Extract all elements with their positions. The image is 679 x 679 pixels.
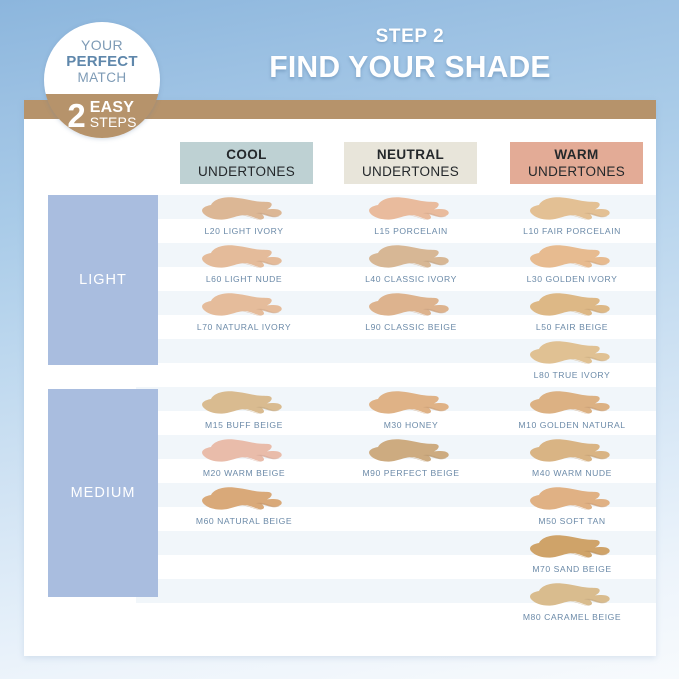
foundation-swatch-icon xyxy=(365,196,457,226)
shade-cell[interactable]: L70 NATURAL IVORY xyxy=(162,291,326,339)
shade-label: M30 HONEY xyxy=(329,420,493,430)
section-medium-text: MEDIUM xyxy=(71,485,136,501)
badge-bottom-half: 2 EASY STEPS xyxy=(44,94,160,138)
section-label-light: LIGHT xyxy=(48,195,158,365)
shade-cell[interactable]: L20 LIGHT IVORY xyxy=(162,195,326,243)
undertone-header-row: COOL UNDERTONES NEUTRAL UNDERTONES WARM … xyxy=(24,142,656,184)
shade-label: L10 FAIR PORCELAIN xyxy=(490,226,654,236)
shade-cell[interactable]: M40 WARM NUDE xyxy=(490,437,654,485)
undertone-name-warm: WARM xyxy=(554,147,598,163)
shade-label: L15 PORCELAIN xyxy=(329,226,493,236)
shade-grid: LIGHT MEDIUM L20 LIGHT IVORYL60 LIGHT NU… xyxy=(24,195,656,620)
foundation-swatch-icon xyxy=(526,292,618,322)
shade-label: M60 NATURAL BEIGE xyxy=(162,516,326,526)
shade-label: L30 GOLDEN IVORY xyxy=(490,274,654,284)
shade-label: L80 TRUE IVORY xyxy=(490,370,654,380)
shade-label: M90 PERFECT BEIGE xyxy=(329,468,493,478)
foundation-swatch-icon xyxy=(198,196,290,226)
undertone-header-cool[interactable]: COOL UNDERTONES xyxy=(180,142,313,184)
shade-cell[interactable]: L60 LIGHT NUDE xyxy=(162,243,326,291)
shade-label: L20 LIGHT IVORY xyxy=(162,226,326,236)
shade-cell[interactable]: L80 TRUE IVORY xyxy=(490,339,654,387)
foundation-swatch-icon xyxy=(526,390,618,420)
badge-line-match: MATCH xyxy=(78,70,127,86)
shade-label: M15 BUFF BEIGE xyxy=(162,420,326,430)
undertone-sub-neutral: UNDERTONES xyxy=(362,163,459,180)
badge-line-perfect: PERFECT xyxy=(66,53,137,70)
shade-cell[interactable]: M30 HONEY xyxy=(329,389,493,437)
shade-cell[interactable]: M70 SAND BEIGE xyxy=(490,533,654,581)
shade-label: M10 GOLDEN NATURAL xyxy=(490,420,654,430)
foundation-swatch-icon xyxy=(198,390,290,420)
undertone-name-cool: COOL xyxy=(226,147,267,163)
foundation-swatch-icon xyxy=(526,244,618,274)
shade-cell[interactable]: L90 CLASSIC BEIGE xyxy=(329,291,493,339)
shade-label: M50 SOFT TAN xyxy=(490,516,654,526)
shade-cell[interactable]: M20 WARM BEIGE xyxy=(162,437,326,485)
shade-cell[interactable]: L10 FAIR PORCELAIN xyxy=(490,195,654,243)
badge-top-half: YOUR PERFECT MATCH xyxy=(44,22,160,94)
shade-label: M80 CARAMEL BEIGE xyxy=(490,612,654,622)
shade-cell[interactable]: M10 GOLDEN NATURAL xyxy=(490,389,654,437)
badge-steps-text: STEPS xyxy=(90,115,137,129)
foundation-swatch-icon xyxy=(365,292,457,322)
shade-cell[interactable]: L50 FAIR BEIGE xyxy=(490,291,654,339)
undertone-sub-warm: UNDERTONES xyxy=(528,163,625,180)
badge-step-words: EASY STEPS xyxy=(90,101,137,129)
page-title: FIND YOUR SHADE xyxy=(177,49,643,84)
foundation-swatch-icon xyxy=(365,438,457,468)
shade-label: L40 CLASSIC IVORY xyxy=(329,274,493,284)
shade-label: L60 LIGHT NUDE xyxy=(162,274,326,284)
undertone-sub-cool: UNDERTONES xyxy=(198,163,295,180)
shade-chart-panel: COOL UNDERTONES NEUTRAL UNDERTONES WARM … xyxy=(24,100,656,656)
foundation-swatch-icon xyxy=(198,244,290,274)
undertone-header-neutral[interactable]: NEUTRAL UNDERTONES xyxy=(344,142,477,184)
badge-easy-text: EASY xyxy=(90,101,137,115)
foundation-swatch-icon xyxy=(365,390,457,420)
badge-line-your: YOUR xyxy=(81,37,123,53)
shade-cell[interactable]: L30 GOLDEN IVORY xyxy=(490,243,654,291)
shade-label: M40 WARM NUDE xyxy=(490,468,654,478)
shade-cell[interactable]: M90 PERFECT BEIGE xyxy=(329,437,493,485)
foundation-swatch-icon xyxy=(526,486,618,516)
shade-cell[interactable]: M60 NATURAL BEIGE xyxy=(162,485,326,533)
shade-label: L70 NATURAL IVORY xyxy=(162,322,326,332)
foundation-swatch-icon xyxy=(365,244,457,274)
undertone-header-warm[interactable]: WARM UNDERTONES xyxy=(510,142,643,184)
shade-cell[interactable]: M80 CARAMEL BEIGE xyxy=(490,581,654,629)
shade-cell[interactable]: M50 SOFT TAN xyxy=(490,485,654,533)
foundation-swatch-icon xyxy=(526,534,618,564)
undertone-name-neutral: NEUTRAL xyxy=(377,147,444,163)
shade-cell[interactable]: M15 BUFF BEIGE xyxy=(162,389,326,437)
shade-label: M70 SAND BEIGE xyxy=(490,564,654,574)
shade-label: L90 CLASSIC BEIGE xyxy=(329,322,493,332)
step-label: STEP 2 xyxy=(170,26,650,48)
title-block: STEP 2 FIND YOUR SHADE xyxy=(170,26,650,84)
foundation-swatch-icon xyxy=(526,196,618,226)
shade-label: M20 WARM BEIGE xyxy=(162,468,326,478)
foundation-swatch-icon xyxy=(198,292,290,322)
shade-cell[interactable]: L15 PORCELAIN xyxy=(329,195,493,243)
foundation-swatch-icon xyxy=(526,582,618,612)
shade-cell[interactable]: L40 CLASSIC IVORY xyxy=(329,243,493,291)
section-label-medium: MEDIUM xyxy=(48,389,158,597)
section-light-text: LIGHT xyxy=(79,272,127,288)
foundation-swatch-icon xyxy=(198,438,290,468)
foundation-swatch-icon xyxy=(526,340,618,370)
badge-step-number: 2 xyxy=(67,100,85,131)
perfect-match-badge: YOUR PERFECT MATCH 2 EASY STEPS xyxy=(44,22,160,138)
shade-label: L50 FAIR BEIGE xyxy=(490,322,654,332)
foundation-swatch-icon xyxy=(198,486,290,516)
foundation-swatch-icon xyxy=(526,438,618,468)
